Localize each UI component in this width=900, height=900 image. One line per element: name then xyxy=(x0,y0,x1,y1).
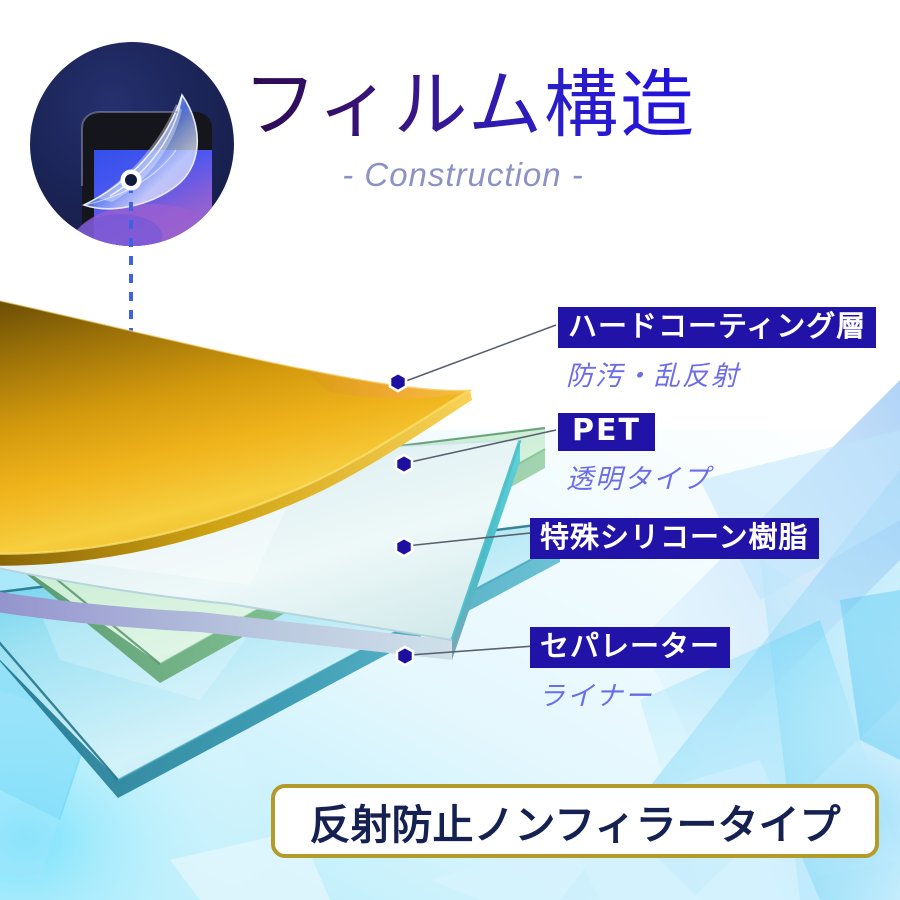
layer-label-pet: PET xyxy=(558,413,655,451)
layer-label-separator: セパレーター xyxy=(530,627,730,668)
page-subtitle: - Construction - xyxy=(243,156,683,194)
product-type-text: 反射防止ノンフィラータイプ xyxy=(310,791,841,851)
callout-hard-coating: ハードコーティング層 防汚・乱反射 xyxy=(558,307,876,393)
callout-separator: セパレーター ライナー xyxy=(530,627,730,713)
callout-silicone: 特殊シリコーン樹脂 xyxy=(530,518,819,559)
layer-sublabel-pet: 透明タイプ xyxy=(566,457,711,496)
header-title-block: フィルム構造 - Construction - xyxy=(243,68,713,194)
screen-protector-film-icon xyxy=(28,40,236,292)
layer-sublabel-hard-coating: 防汚・乱反射 xyxy=(566,354,876,393)
hexagon-marker xyxy=(397,647,413,665)
hexagon-marker xyxy=(396,455,412,473)
callout-pet: PET 透明タイプ xyxy=(558,413,711,496)
layer-sublabel-separator: ライナー xyxy=(538,674,730,713)
layer-label-silicone: 特殊シリコーン樹脂 xyxy=(530,518,819,559)
hexagon-marker xyxy=(396,538,412,556)
film-construction-infographic: フィルム構造 - Construction - ハードコーティング層 防汚・乱反… xyxy=(0,0,900,900)
page-title: フィルム構造 xyxy=(243,68,713,142)
layer-label-hard-coating: ハードコーティング層 xyxy=(558,307,876,348)
product-type-banner: 反射防止ノンフィラータイプ xyxy=(271,784,879,858)
hexagon-marker xyxy=(390,373,406,391)
